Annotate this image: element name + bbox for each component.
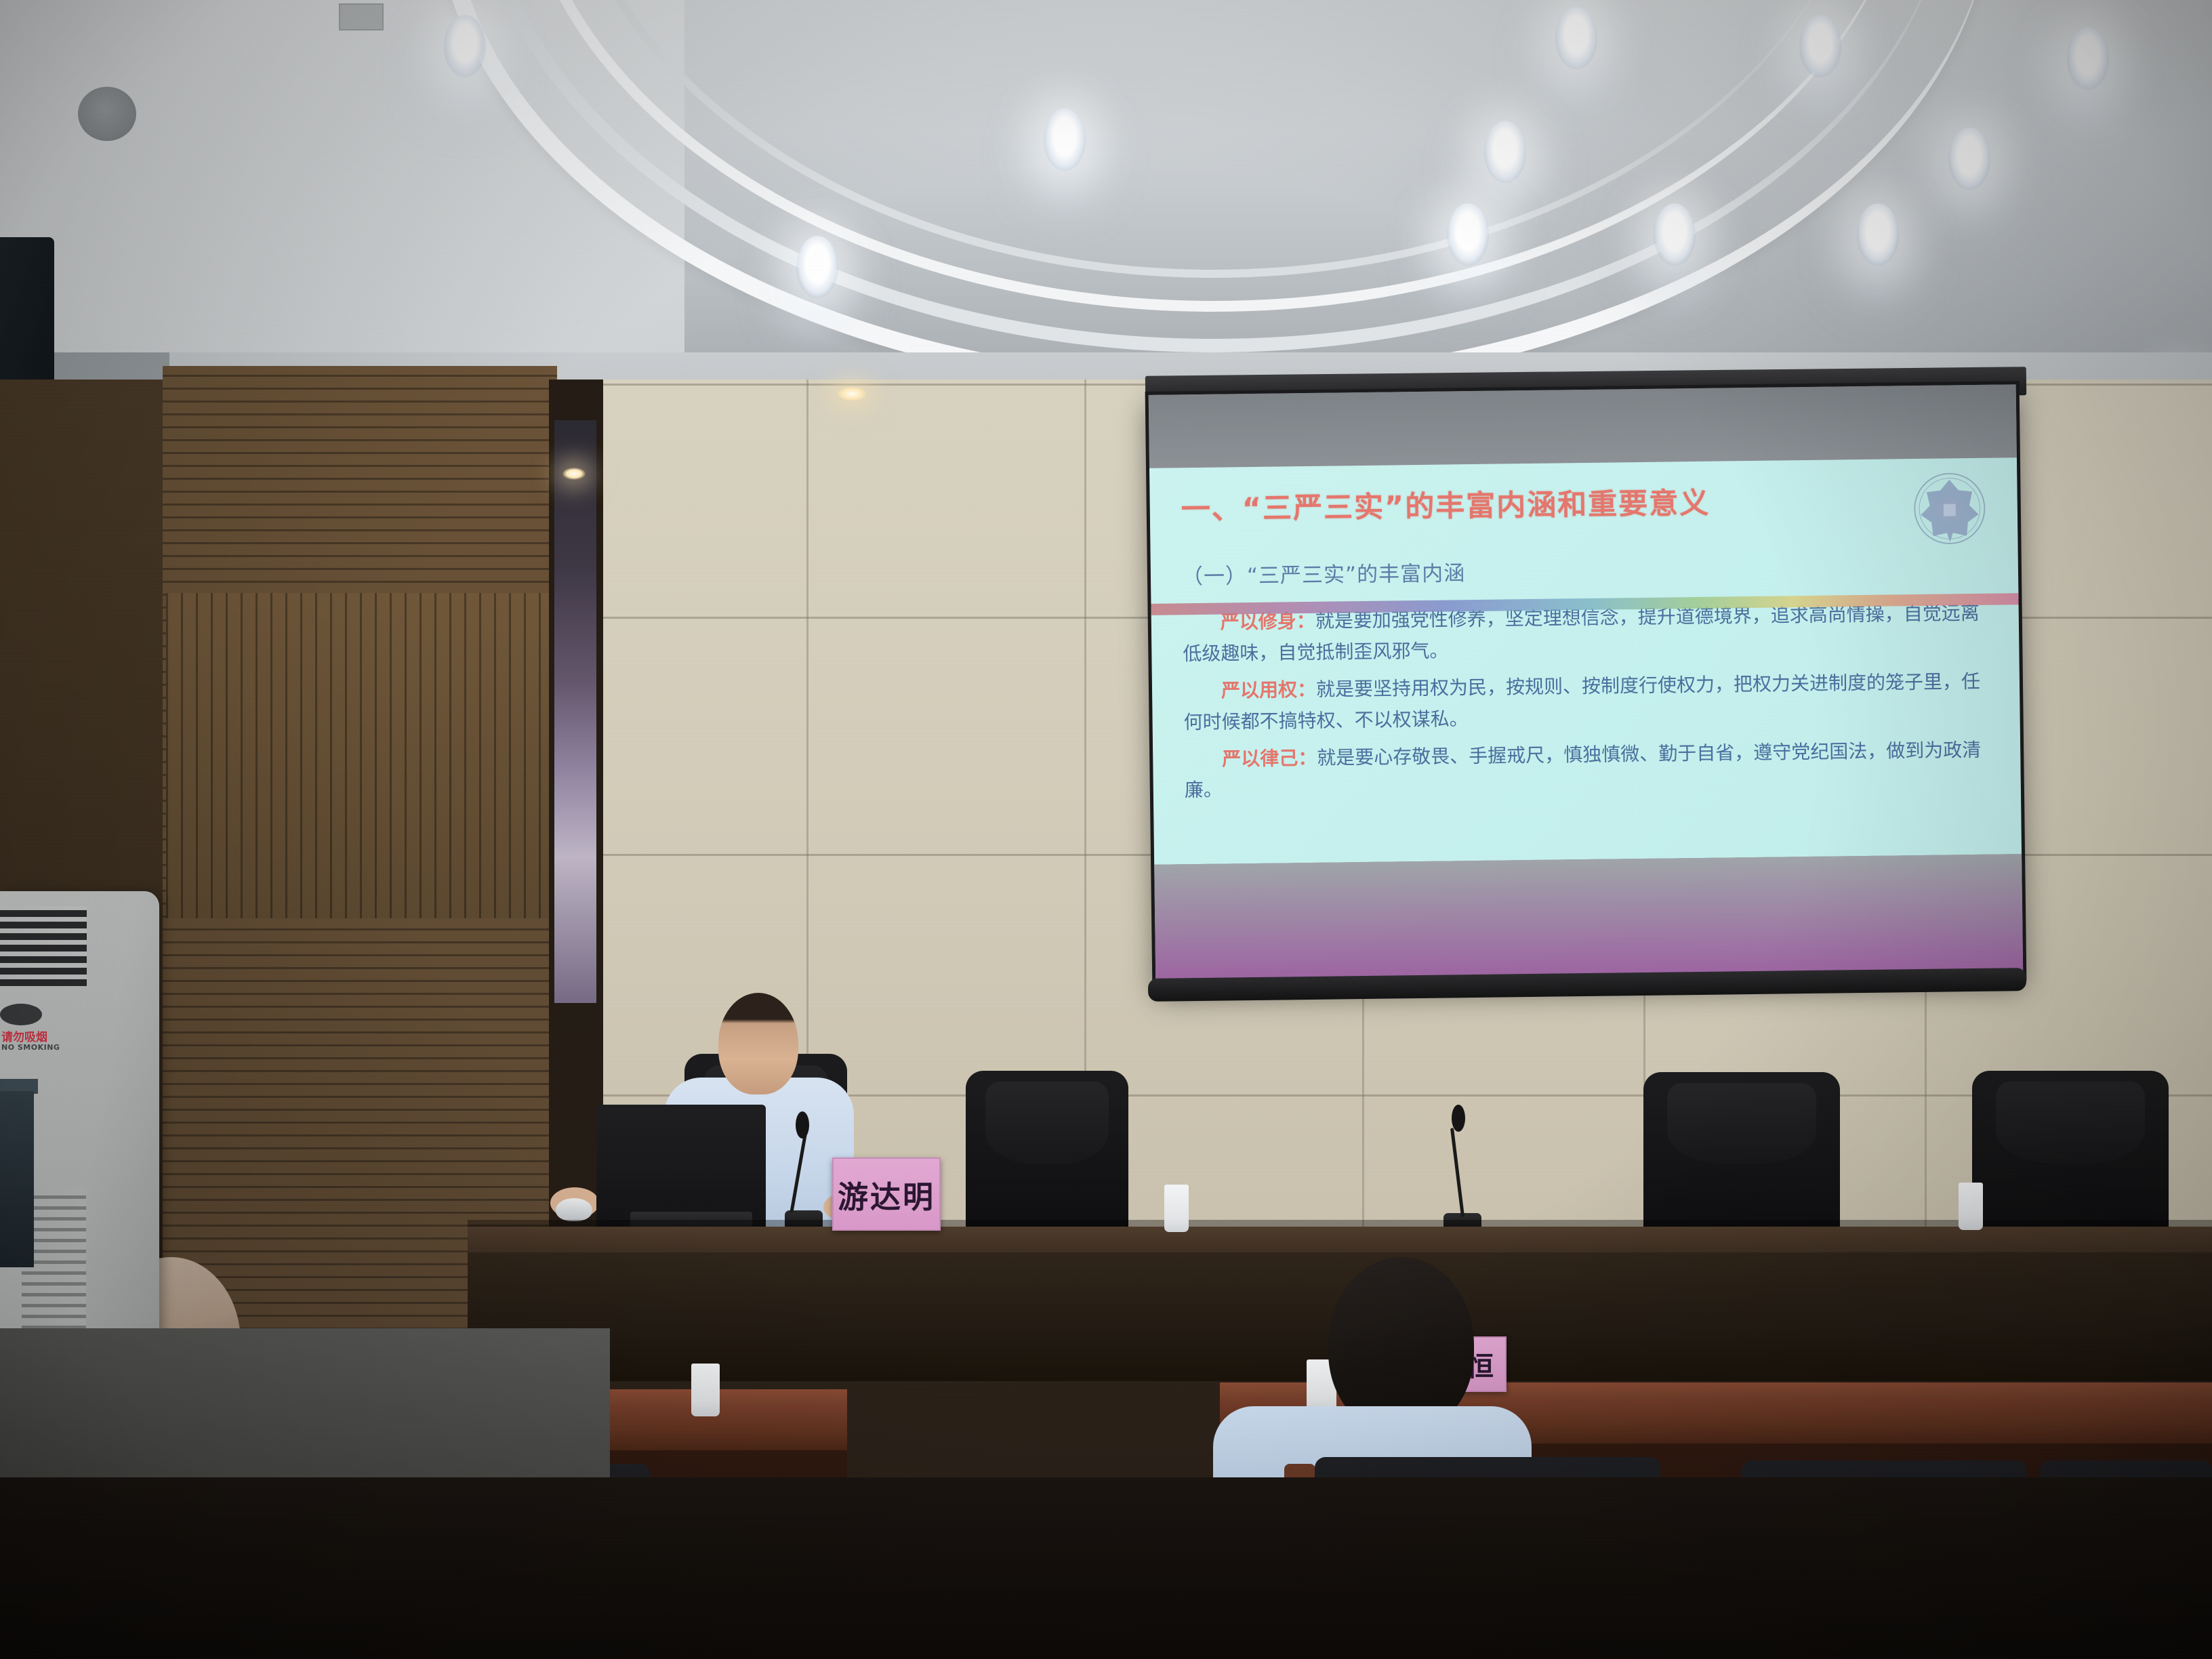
ceiling-downlight (1044, 108, 1086, 171)
wood-slat-vertical-band (166, 593, 554, 918)
institution-emblem-icon (1911, 470, 1988, 547)
ceiling-vent-round-icon (78, 87, 136, 141)
ceiling-downlight (2067, 27, 2109, 89)
slide-paragraph-keyword: 严以律己 (1222, 747, 1298, 770)
ceiling-downlight (1555, 7, 1597, 69)
no-smoking-sticker: 请勿吸烟 NO SMOKING (1, 1032, 66, 1051)
slide-paragraph-separator: ： (1298, 747, 1317, 769)
presentation-slide: 一、“三严三实”的丰富内涵和重要意义 （一）“三严三实”的丰富内涵 严以修身：就… (1149, 457, 2022, 865)
slide-paragraph: 严以律己：就是要心存敬畏、手握戒尺，慎独慎微、勤于自省，遵守党纪国法，做到为政清… (1184, 735, 1990, 806)
slide-subtitle: （一）“三严三实”的丰富内涵 (1182, 550, 1987, 590)
slide-paragraph-separator: ： (1296, 610, 1315, 632)
no-smoking-text-cn: 请勿吸烟 (1, 1031, 47, 1044)
wall-downlight (837, 386, 867, 401)
conference-room-photo: 一、“三严三实”的丰富内涵和重要意义 （一）“三严三实”的丰富内涵 严以修身：就… (0, 0, 2212, 1659)
slide-body: （一）“三严三实”的丰富内涵 严以修身：就是要加强党性修养，坚定理想信念，提升道… (1182, 550, 1990, 806)
ceiling-downlight (1654, 203, 1696, 266)
paper-cup (691, 1364, 720, 1416)
ac-display-panel (0, 1004, 42, 1025)
ac-air-grille (0, 906, 87, 986)
foreground-shadow (0, 1477, 2212, 1659)
ceiling-vent-rect-icon (339, 3, 384, 30)
ceiling-downlight (1484, 121, 1526, 183)
wall-downlight (562, 468, 586, 480)
ceiling-downlight (444, 15, 486, 77)
slide-paragraph: 严以用权：就是要坚持用权为民，按规则、按制度行使权力，把权力关进制度的笼子里，任… (1183, 666, 1989, 737)
ceiling-downlight (1799, 15, 1841, 77)
ceiling (0, 0, 2212, 380)
presenter-head (718, 993, 798, 1094)
presenter-nameplate: 游达明 (832, 1158, 941, 1231)
wall-banner-strip (554, 420, 596, 1003)
equipment-box (0, 1091, 34, 1267)
ceiling-downlight (1948, 127, 1990, 190)
ceiling-downlight (796, 236, 838, 298)
computer-mouse[interactable] (556, 1198, 592, 1221)
projector-screen: 一、“三严三实”的丰富内涵和重要意义 （一）“三严三实”的丰富内涵 严以修身：就… (1149, 384, 2024, 988)
ceiling-downlight (1857, 203, 1899, 266)
slide-paragraph-keyword: 严以用权 (1221, 678, 1297, 701)
paper-cup (1164, 1185, 1189, 1232)
screen-blank-top (1149, 384, 2017, 468)
no-smoking-text-en: NO SMOKING (1, 1044, 66, 1051)
ceiling-downlight (1447, 203, 1489, 266)
screen-blank-bottom (1154, 854, 2023, 988)
paper-cup (1959, 1183, 1983, 1230)
presenter-nameplate-text: 游达明 (838, 1172, 935, 1216)
slide-title: 一、“三严三实”的丰富内涵和重要意义 (1181, 484, 1986, 527)
slide-paragraph-separator: ： (1297, 678, 1316, 701)
